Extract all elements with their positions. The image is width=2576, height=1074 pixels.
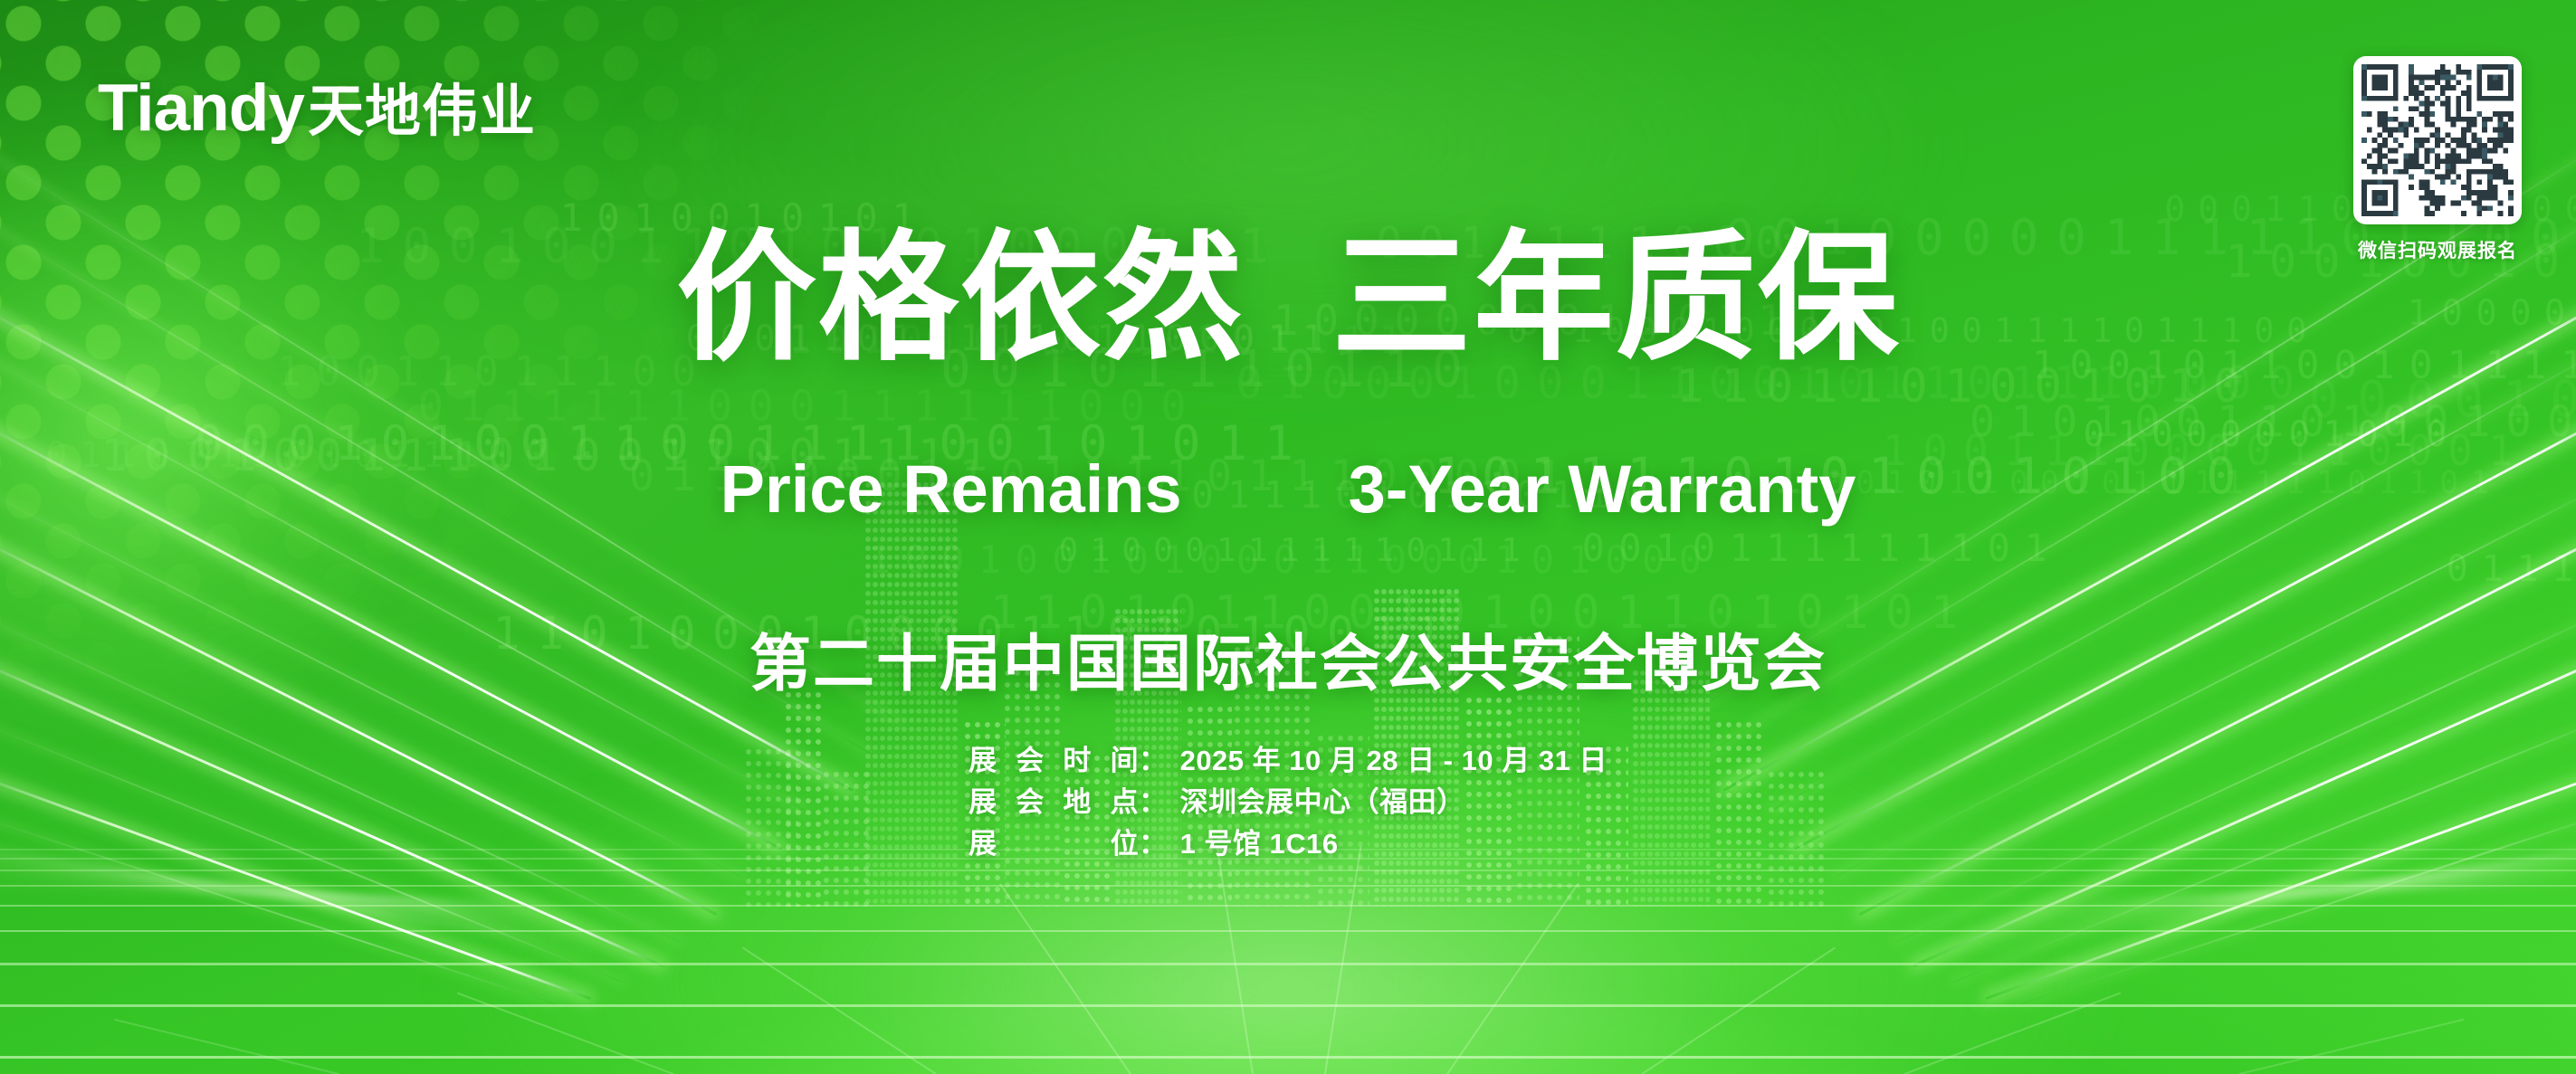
event-detail-colon: ： <box>1139 823 1180 865</box>
headline-english-row: Price Remains 3-Year Warranty <box>0 451 2576 527</box>
event-detail-value: 1 号馆 1C16 <box>1180 823 1339 865</box>
event-detail-colon: ： <box>1139 782 1180 823</box>
headline-price-remains-en: Price Remains <box>720 451 1182 527</box>
event-details: 展会时间：2025 年 10 月 28 日 - 10 月 31 日展会地点：深圳… <box>968 740 1608 865</box>
event-title: 第二十届中国国际社会公共安全博览会 <box>0 613 2576 703</box>
qr-code-icon[interactable] <box>2353 56 2522 224</box>
event-detail-value: 2025 年 10 月 28 日 - 10 月 31 日 <box>1180 740 1608 782</box>
brand-logo-chinese: 天地伟业 <box>308 65 536 147</box>
headline-warranty-cn: 三年质保 <box>1331 224 1900 373</box>
event-detail-label: 展位 <box>968 823 1139 865</box>
event-detail-label: 展会时间 <box>968 740 1139 782</box>
headline-price-remains-cn: 价格依然 <box>676 224 1245 373</box>
event-detail-row: 展位：1 号馆 1C16 <box>968 823 1608 865</box>
event-detail-label: 展会地点 <box>968 782 1139 823</box>
event-detail-colon: ： <box>1139 740 1180 782</box>
headline-chinese-row: 价格依然 三年质保 <box>0 224 2576 373</box>
event-detail-row: 展会地点：深圳会展中心（福田） <box>968 782 1608 823</box>
promo-banner: 0 1 1 1 1 0 1 0 1 1 1 0 1 1 0 1 1 1 1 0 … <box>0 0 2576 1074</box>
event-detail-row: 展会时间：2025 年 10 月 28 日 - 10 月 31 日 <box>968 740 1608 782</box>
brand-logo-latin: Tiandy <box>98 71 304 146</box>
brand-logo[interactable]: Tiandy 天地伟业 <box>98 65 536 147</box>
event-detail-value: 深圳会展中心（福田） <box>1180 782 1465 823</box>
headline-warranty-en: 3-Year Warranty <box>1349 451 1856 527</box>
